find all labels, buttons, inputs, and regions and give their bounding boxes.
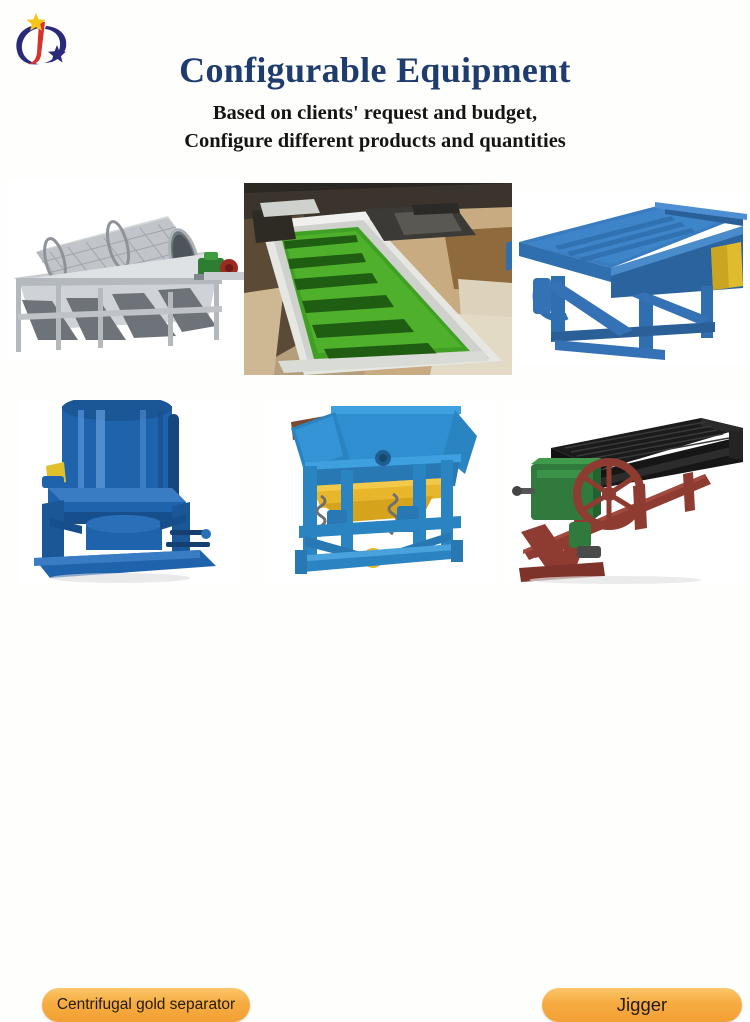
- subtitle-line-2: Configure different products and quantit…: [0, 128, 750, 156]
- product-card-drum-screen[interactable]: Drum screen: [8, 180, 248, 365]
- page-title: Configurable Equipment: [0, 50, 750, 91]
- product-label-centrifugal-gold-separator[interactable]: Centrifugal gold separator: [42, 988, 250, 1022]
- configurable-equipment-banner: Configurable Equipment Based on clients'…: [0, 0, 750, 627]
- jigger-photo: [265, 400, 495, 585]
- page-subtitle: Based on clients' request and budget, Co…: [0, 100, 750, 155]
- product-card-jigger[interactable]: Jigger: [265, 400, 495, 585]
- drum-screen-photo: [8, 180, 248, 360]
- product-card-centrifugal-gold-separator[interactable]: Centrifugal gold separator: [20, 400, 240, 585]
- subtitle-line-1: Based on clients' request and budget,: [0, 100, 750, 128]
- product-label-jigger[interactable]: Jigger: [542, 988, 742, 1022]
- product-card-shake-gold-bed[interactable]: Shake gold bed: [505, 400, 745, 585]
- pulsating-sluice-box-photo: [515, 190, 750, 365]
- gold-gilding-sluice-photo: [244, 183, 512, 375]
- product-card-pulsating-sluice-box[interactable]: Pulsating sluice box: [515, 190, 750, 365]
- banner-heading: Configurable Equipment Based on clients'…: [0, 50, 750, 156]
- product-card-gold-gilding-sluice[interactable]: Gold Gilding Sluice: [244, 183, 512, 375]
- shake-gold-bed-photo: [505, 400, 745, 585]
- centrifugal-gold-separator-photo: [20, 400, 240, 585]
